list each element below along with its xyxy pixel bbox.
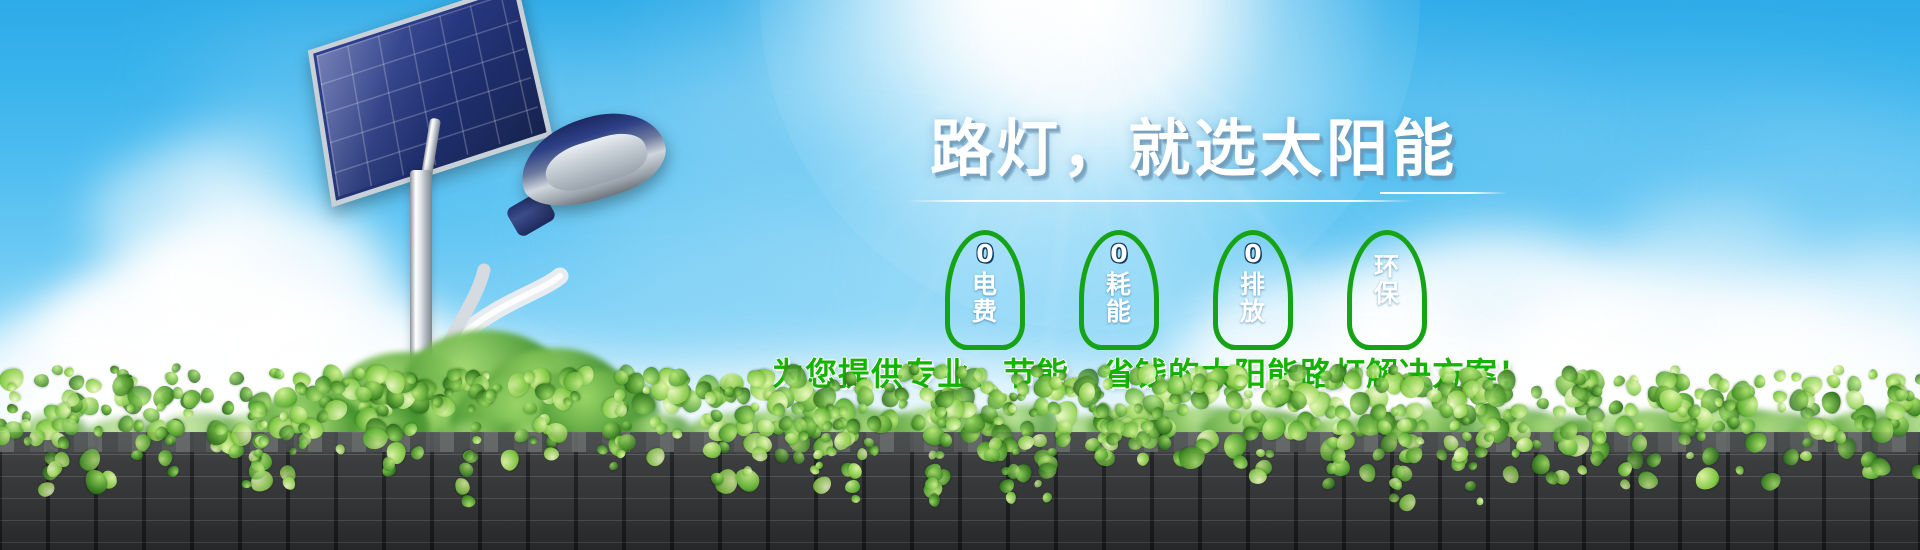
ivy-leaf <box>1800 375 1824 397</box>
feature-badge: 0排放 <box>1210 230 1296 354</box>
title-divider <box>905 200 1413 202</box>
ivy-leaf <box>77 394 101 417</box>
ivy-leaf <box>1714 398 1722 408</box>
ivy-leaf <box>1268 391 1288 410</box>
ivy-leaf <box>1285 392 1296 405</box>
ivy-leaf <box>1016 392 1027 402</box>
feature-badge-list: 0电费0耗能0排放环保 <box>942 230 1430 354</box>
badge-value: 0 <box>1076 241 1162 266</box>
ivy-leaf <box>1568 381 1590 403</box>
ivy-leaf <box>1886 374 1906 391</box>
ivy-leaf <box>116 368 131 382</box>
feature-badge: 0耗能 <box>1076 230 1162 354</box>
ivy-leaf <box>119 372 135 389</box>
ivy-leaf <box>1903 389 1915 402</box>
ivy-leaf <box>124 375 140 390</box>
feature-badge: 0电费 <box>942 230 1028 354</box>
ivy-leaf <box>1572 368 1592 386</box>
ivy-leaf <box>170 362 183 375</box>
ivy-leaf <box>7 390 22 405</box>
ivy-leaf <box>1715 377 1732 395</box>
ivy-leaf <box>1833 365 1845 376</box>
ivy-leaf <box>118 389 147 419</box>
ivy-leaf <box>1612 373 1627 388</box>
ivy-leaf <box>1167 391 1183 407</box>
ivy-leaf <box>1574 402 1591 417</box>
tagline: 为您提供专业、节能、省钱的太阳能路灯解决方案！ <box>772 358 1531 390</box>
ivy-leaf <box>1582 370 1599 389</box>
ivy-leaf <box>51 363 65 376</box>
ivy-leaf <box>719 374 744 401</box>
ivy-leaf <box>1562 383 1592 411</box>
ivy-leaf <box>66 373 86 392</box>
ivy-leaf <box>1585 391 1605 411</box>
ivy-leaf <box>1894 388 1908 403</box>
ivy-leaf <box>148 382 178 411</box>
ivy-leaf <box>0 417 9 434</box>
ivy-leaf <box>107 370 138 400</box>
ivy-leaf <box>1591 384 1605 399</box>
badge-label: 排放 <box>1210 272 1296 325</box>
ivy-leaf <box>63 366 76 379</box>
ivy-leaf <box>1786 387 1812 415</box>
ivy-leaf <box>1645 387 1667 411</box>
ivy-leaf <box>163 369 180 387</box>
ivy-leaf <box>110 382 138 410</box>
ivy-leaf <box>179 387 203 411</box>
ivy-leaf <box>1772 369 1787 384</box>
ivy-leaf <box>1676 374 1691 392</box>
badge-label: 耗能 <box>1076 272 1162 325</box>
ivy-leaf <box>1647 385 1663 402</box>
ivy-leaf <box>67 395 84 414</box>
ivy-leaf <box>1629 374 1640 386</box>
ivy-leaf <box>1652 383 1677 411</box>
ivy-leaf <box>807 393 824 408</box>
ivy-leaf <box>1576 372 1590 388</box>
feature-badge: 环保 <box>1344 230 1430 354</box>
ivy-leaf <box>1490 394 1501 406</box>
ivy-leaf <box>1803 401 1820 417</box>
ivy-leaf <box>1821 391 1843 415</box>
ivy-leaf <box>723 385 738 403</box>
ivy-leaf <box>1843 387 1867 412</box>
ivy-leaf <box>1825 372 1843 390</box>
ivy-leaf <box>1725 385 1752 409</box>
badge-label: 环保 <box>1344 254 1430 307</box>
ivy-leaf <box>996 393 1008 404</box>
tiled-brick-wall <box>0 432 1920 550</box>
ivy-leaf <box>185 367 202 385</box>
ivy-leaf <box>1623 376 1644 398</box>
ivy-leaf <box>734 387 751 406</box>
ivy-leaf <box>155 401 168 413</box>
ivy-leaf <box>1790 372 1802 383</box>
ivy-leaf <box>160 390 175 405</box>
ivy-leaf <box>1752 374 1766 390</box>
cloud <box>700 30 1080 110</box>
ivy-leaf <box>1887 377 1901 390</box>
ivy-leaf <box>100 403 113 417</box>
ivy-leaf <box>1669 364 1680 376</box>
badge-value: 0 <box>942 241 1028 266</box>
badge-value: 0 <box>1210 241 1296 266</box>
ivy-leaf <box>70 399 85 417</box>
ivy-leaf <box>171 386 184 400</box>
ivy-leaf <box>723 385 737 399</box>
hero-banner: 路灯，就选太阳能 0电费0耗能0排放环保 为您提供专业、节能、省钱的太阳能路灯解… <box>0 0 1920 550</box>
ivy-leaf <box>1536 396 1552 411</box>
ivy-leaf <box>1329 396 1345 414</box>
badge-label: 电费 <box>942 272 1028 325</box>
ivy-leaf <box>1559 363 1580 385</box>
ivy-leaf <box>84 377 104 395</box>
ivy-leaf <box>731 385 744 398</box>
ivy-leaf <box>1867 370 1879 381</box>
ivy-leaf <box>1286 399 1301 415</box>
ivy-leaf <box>1802 385 1818 400</box>
ivy-leaf <box>1693 388 1707 401</box>
ivy-leaf <box>58 387 82 411</box>
ivy-leaf <box>1792 389 1817 412</box>
ivy-leaf <box>1346 389 1372 417</box>
cloud <box>1480 90 1880 180</box>
ivy-leaf <box>268 367 282 380</box>
ivy-leaf <box>6 402 20 415</box>
ivy-leaf <box>275 369 285 380</box>
cloud <box>1760 240 1920 400</box>
ivy-leaf <box>750 402 760 413</box>
ivy-leaf <box>1531 386 1542 399</box>
ivy-leaf <box>200 387 215 404</box>
page-title: 路灯，就选太阳能 <box>930 118 1458 180</box>
ivy-leaf <box>896 398 909 411</box>
ivy-leaf <box>1576 388 1593 402</box>
ivy-leaf <box>1305 389 1334 420</box>
ivy-leaf <box>1772 390 1788 404</box>
ivy-leaf <box>1655 370 1678 391</box>
ivy-leaf <box>718 369 747 396</box>
ivy-leaf <box>32 372 51 390</box>
ivy-leaf <box>721 371 745 394</box>
ivy-leaf <box>1582 368 1606 395</box>
ivy-leaf <box>1571 371 1588 387</box>
ivy-leaf <box>1869 369 1879 380</box>
ivy-leaf <box>227 370 245 387</box>
ivy-leaf <box>198 388 215 405</box>
ivy-leaf <box>110 366 120 375</box>
ivy-leaf <box>744 367 768 391</box>
ivy-leaf <box>125 402 136 414</box>
wall-tile-cap <box>0 432 1920 452</box>
cloud <box>1600 200 1820 350</box>
ivy-leaf <box>1088 403 1098 414</box>
cloud <box>90 150 280 290</box>
ivy-leaf <box>1889 381 1911 404</box>
ivy-leaf <box>1707 372 1726 392</box>
ivy-leaf <box>1913 373 1920 388</box>
cloud <box>170 120 320 230</box>
ivy-leaf <box>1656 369 1688 400</box>
ivy-leaf <box>1551 370 1583 402</box>
ivy-leaf <box>127 386 152 408</box>
ivy-leaf <box>6 381 17 392</box>
title-divider-right <box>1380 192 1508 194</box>
cloud <box>1750 130 1920 220</box>
ivy-leaf <box>1846 375 1862 393</box>
ivy-leaf <box>177 387 202 412</box>
ivy-leaf <box>1740 384 1755 397</box>
ivy-leaf <box>0 366 28 395</box>
ivy-leaf <box>1728 377 1755 405</box>
ivy-leaf <box>1885 382 1909 406</box>
ivy-leaf <box>240 387 253 402</box>
